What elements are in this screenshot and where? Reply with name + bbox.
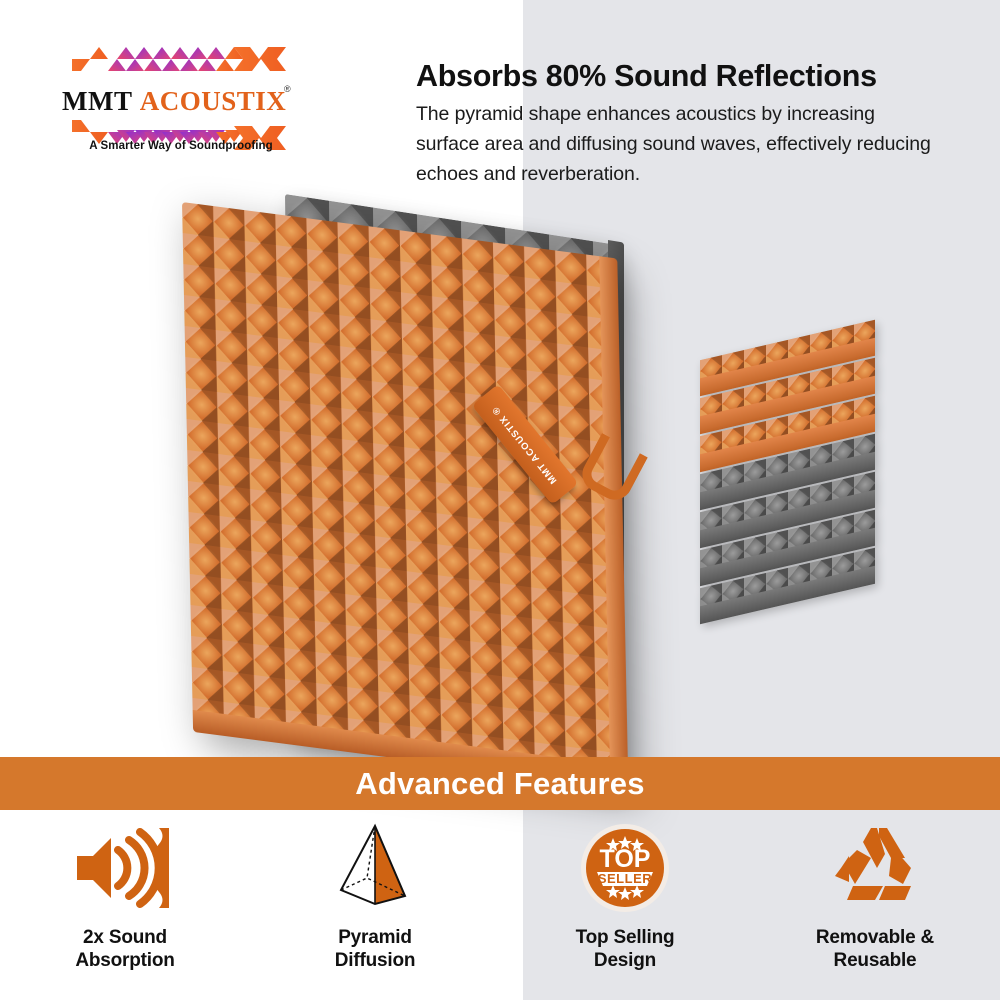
page-subhead: The pyramid shape enhances acoustics by … (416, 99, 941, 189)
feature-label-line2: Reusable (816, 949, 934, 972)
pyramid-icon (327, 818, 423, 918)
feature-label-line2: Design (576, 949, 675, 972)
sound-absorption-icon (71, 818, 179, 918)
recycle-icon (827, 818, 923, 918)
logo-zigzag-bottom-icon (70, 118, 288, 158)
feature-label: Top Selling Design (576, 926, 675, 972)
panel-stack (700, 330, 930, 780)
feature-item-pyramid-diffusion: Pyramid Diffusion (250, 818, 500, 993)
feature-label-line2: Diffusion (335, 949, 416, 972)
feature-label-line1: Top Selling (576, 926, 675, 949)
logo-registered-mark: ® (284, 84, 291, 94)
logo-text-mmt: MMT (62, 86, 132, 116)
feature-item-top-selling-design: TOP SELLER Top Selling Design (500, 818, 750, 993)
feature-label-line1: 2x Sound (75, 926, 174, 949)
logo-wordmark: MMT ACOUSTIX (62, 86, 294, 116)
page-headline: Absorbs 80% Sound Reflections (416, 57, 956, 95)
feature-label: 2x Sound Absorption (75, 926, 174, 972)
feature-label-line1: Pyramid (335, 926, 416, 949)
feature-row: 2x Sound Absorption Pyramid Diffusion (0, 818, 1000, 993)
feature-item-removable-reusable: Removable & Reusable (750, 818, 1000, 993)
advanced-features-title: Advanced Features (0, 757, 1000, 810)
feature-label-line2: Absorption (75, 949, 174, 972)
top-seller-badge-icon: TOP SELLER (579, 818, 671, 918)
logo-tagline: A Smarter Way of Soundproofing (65, 140, 297, 152)
feature-label: Removable & Reusable (816, 926, 934, 972)
feature-item-sound-absorption: 2x Sound Absorption (0, 818, 250, 993)
logo-text-acoustix: ACOUSTIX (140, 86, 287, 116)
badge-seller-text: SELLER (598, 871, 652, 886)
feature-label-line1: Removable & (816, 926, 934, 949)
product-image: MMT ACOUSTIX ® (0, 180, 1000, 760)
feature-label: Pyramid Diffusion (335, 926, 416, 972)
badge-top-text: TOP (600, 845, 651, 873)
logo-zigzag-top-icon (70, 45, 288, 85)
brand-logo: MMT ACOUSTIX ® A Smarter Way of Soundpro… (62, 40, 307, 158)
infographic-canvas: MMT ACOUSTIX ® A Smarter Way of Soundpro… (0, 0, 1000, 1000)
